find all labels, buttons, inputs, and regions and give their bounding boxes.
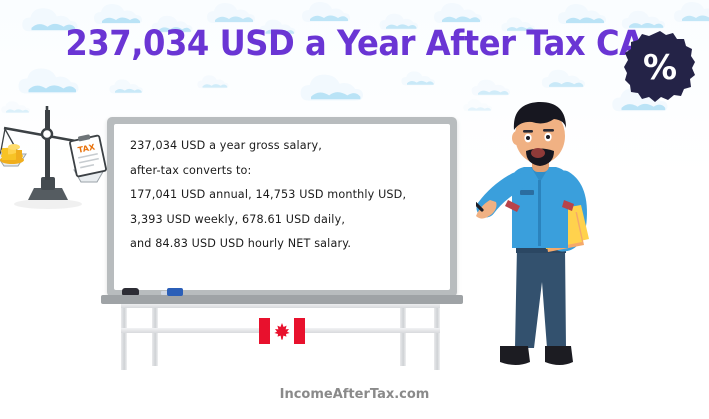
teacher-pocket [520,190,534,195]
board-line-1: 237,034 USD a year gross salary, [130,134,442,159]
teacher-brow-right [543,129,554,132]
canada-flag-icon [259,318,305,344]
eraser-icon [122,288,139,295]
teacher-shoe-left [500,346,530,365]
teacher-ear [512,131,522,145]
stand-leg-right-inner [400,300,406,366]
whiteboard-face: 237,034 USD a year gross salary, after-t… [114,124,450,290]
teacher-mouth [531,148,545,158]
scale-pivot [42,129,52,139]
gold-coins-icon [0,144,24,164]
board-line-5: and 84.83 USD USD hourly NET salary. [130,232,442,257]
whiteboard-tray [101,295,463,304]
stand-leg-left [121,300,127,370]
teacher-pants [515,246,566,348]
blue-marker-icon [167,288,183,296]
scale-shadow [14,199,82,209]
teacher-character [476,96,666,396]
page-title: 237,034 USD a Year After Tax CA [28,22,680,66]
whiteboard: 237,034 USD a year gross salary, after-t… [107,117,457,297]
teacher-brow-left [523,130,533,133]
board-line-2: after-tax converts to: [130,159,442,184]
teacher-shoe-right [545,346,573,365]
stand-leg-right [434,300,440,370]
teacher-placket [538,180,541,246]
stand-leg-left-inner [152,300,158,366]
board-line-4: 3,393 USD weekly, 678.61 USD daily, [130,208,442,233]
balance-scale-illustration: TAX [0,104,110,216]
board-line-3: 177,041 USD annual, 14,753 USD monthly U… [130,183,442,208]
site-watermark: IncomeAfterTax.com [0,387,709,402]
percent-badge: % [623,30,697,106]
percent-symbol: % [643,48,677,88]
whiteboard-text: 237,034 USD a year gross salary, after-t… [130,134,442,257]
infographic-page: 237,034 USD a Year After Tax CA % [0,0,709,419]
